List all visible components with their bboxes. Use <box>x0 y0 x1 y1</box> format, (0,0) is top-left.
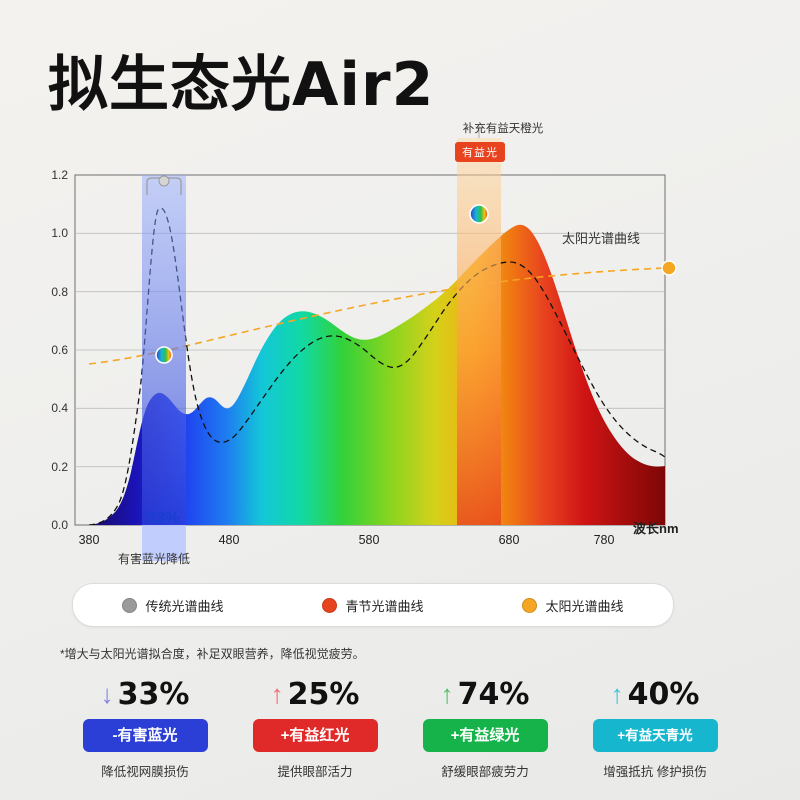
stat-pill: +有益绿光 <box>423 719 548 752</box>
stat-sub: 提供眼部活力 <box>240 761 390 780</box>
beneficial-point-marker <box>470 205 488 223</box>
spectrum-chart: 补充有益天橙光 有益光 太阳光谱曲线 有害蓝光降低 33% 波长nm <box>0 120 800 580</box>
svg-text:380: 380 <box>79 533 100 547</box>
stats-row: ↓ 33% -有害蓝光 降低视网膜损伤 ↑ 25% +有益红光 提供眼部活力 ↑… <box>70 675 730 780</box>
stat-pill: -有害蓝光 <box>83 719 208 752</box>
annotation-top-note: 补充有益天橙光 <box>428 120 578 136</box>
stat-value: 33% <box>118 677 190 712</box>
legend-label: 青节光谱曲线 <box>345 596 423 615</box>
svg-text:1.2: 1.2 <box>51 168 68 182</box>
stat-value: 40% <box>628 677 700 712</box>
legend-dot-icon <box>522 598 537 613</box>
svg-text:680: 680 <box>499 533 520 547</box>
svg-text:0.0: 0.0 <box>51 518 68 532</box>
legend-item-sun[interactable]: 太阳光谱曲线 <box>522 596 623 615</box>
legend-dot-icon <box>322 598 337 613</box>
stat-sub: 增强抵抗 修护损伤 <box>580 761 730 780</box>
legend-dot-icon <box>122 598 137 613</box>
chart-svg: 1.2 1.0 0.8 0.6 0.4 0.2 0.0 380 480 580 … <box>0 120 800 580</box>
svg-text:0.2: 0.2 <box>51 460 68 474</box>
sun-curve-label: 太阳光谱曲线 <box>562 228 640 247</box>
legend-item-qingjie[interactable]: 青节光谱曲线 <box>322 596 423 615</box>
stat-cyan: ↑ 40% +有益天青光 增强抵抗 修护损伤 <box>580 675 730 780</box>
legend-label: 传统光谱曲线 <box>145 596 223 615</box>
svg-text:0.8: 0.8 <box>51 285 68 299</box>
stat-blue: ↓ 33% -有害蓝光 降低视网膜损伤 <box>70 675 220 780</box>
blue-point-marker <box>156 347 172 363</box>
blue-reduce-label: 有害蓝光降低 <box>118 550 190 567</box>
arrow-up-icon: ↑ <box>611 681 624 707</box>
arrow-down-icon: ↓ <box>101 681 114 707</box>
svg-text:0.6: 0.6 <box>51 343 68 357</box>
arrow-up-icon: ↑ <box>441 681 454 707</box>
svg-text:580: 580 <box>359 533 380 547</box>
stat-pill: +有益天青光 <box>593 719 718 752</box>
badge-beneficial-light: 有益光 <box>455 142 505 162</box>
legend-label: 太阳光谱曲线 <box>545 596 623 615</box>
stat-sub: 降低视网膜损伤 <box>70 761 220 780</box>
sun-curve-endpoint <box>662 261 676 275</box>
footnote: *增大与太阳光谱拟合度，补足双眼营养，降低视觉疲劳。 <box>60 645 365 662</box>
svg-text:480: 480 <box>219 533 240 547</box>
stat-value: 25% <box>288 677 360 712</box>
svg-text:0.4: 0.4 <box>51 401 68 415</box>
stat-value: 74% <box>458 677 530 712</box>
traditional-peak-marker <box>159 176 169 186</box>
x-axis-name: 波长nm <box>633 518 679 537</box>
svg-text:1.0: 1.0 <box>51 226 68 240</box>
beneficial-orange-band <box>457 138 501 525</box>
chart-legend: 传统光谱曲线 青节光谱曲线 太阳光谱曲线 <box>72 583 674 627</box>
arrow-up-icon: ↑ <box>271 681 284 707</box>
stat-sub: 舒缓眼部疲劳力 <box>410 761 560 780</box>
page-title: 拟生态光Air2 <box>48 36 434 123</box>
stat-pill: +有益红光 <box>253 719 378 752</box>
stat-red: ↑ 25% +有益红光 提供眼部活力 <box>240 675 390 780</box>
svg-text:780: 780 <box>594 533 615 547</box>
blue-reduce-value: 33% <box>146 508 180 528</box>
legend-item-traditional[interactable]: 传统光谱曲线 <box>122 596 223 615</box>
stat-green: ↑ 74% +有益绿光 舒缓眼部疲劳力 <box>410 675 560 780</box>
